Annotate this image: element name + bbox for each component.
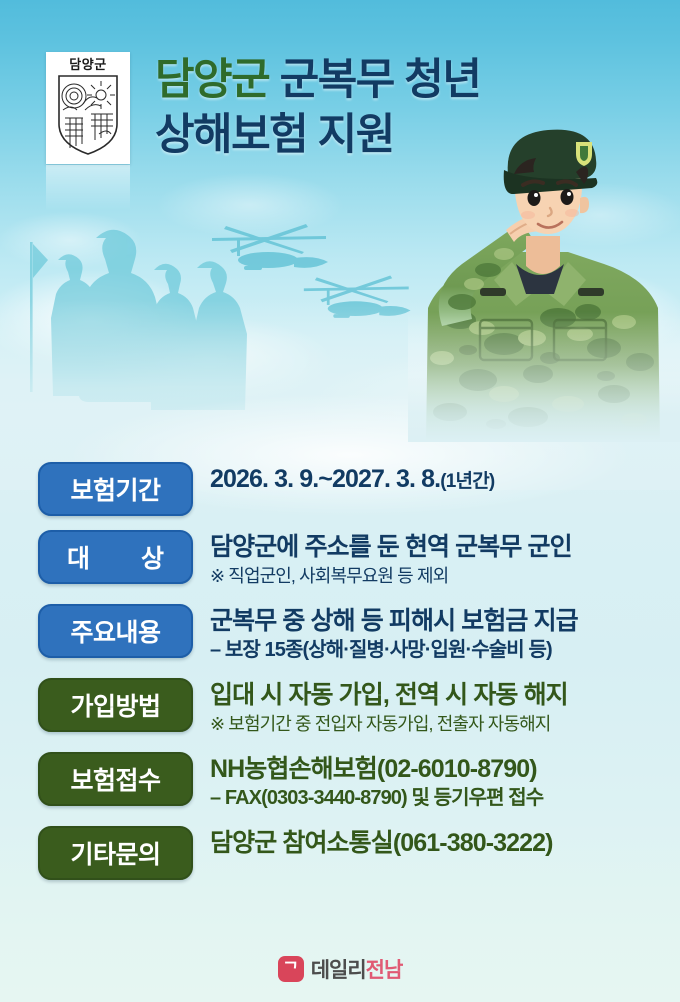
info-table: 보험기간 2026. 3. 9.~2027. 3. 8.(1년간) 대 상 담양… [0,462,680,894]
info-row: 주요내용 군복무 중 상해 등 피해시 보험금 지급 – 보장 15종(상해·질… [0,604,680,664]
publisher-logo: ᄀ 데일리전남 [0,954,680,984]
helicopter-icon [212,224,328,270]
row-line-1: 담양군에 주소를 둔 현역 군복무 군인 [210,532,652,562]
title-highlight: 담양군 [155,56,269,104]
info-row: 보험기간 2026. 3. 9.~2027. 3. 8.(1년간) [0,462,680,516]
publisher-name-part-2: 전남 [366,959,403,982]
helicopter-group [210,218,440,348]
damyang-county-crest-icon [57,74,119,156]
emblem-reflection [46,165,130,211]
row-label-badge: 가입방법 [38,678,193,732]
row-line-1: 군복무 중 상해 등 피해시 보험금 지급 [210,606,652,636]
publisher-name: 데일리전남 [311,954,403,984]
row-line-1-main: 2026. 3. 9.~2027. 3. 8. [210,465,440,493]
poster-title: 담양군 군복무 청년 상해보험 지원 [155,53,625,162]
row-line-1: 2026. 3. 9.~2027. 3. 8.(1년간) [210,464,652,497]
title-line-2: 상해보험 지원 [155,108,625,162]
poster-root: 담양군 담양군 군복무 청년 상해보험 지원 보험기간 [0,0,680,1002]
info-row: 보험접수 NH농협손해보험(02-6010-8790) – FAX(0303-3… [0,752,680,812]
emblem-label: 담양군 [69,58,106,71]
row-line-2: – FAX(0303-3440-8790) 및 등기우편 접수 [210,785,652,812]
row-label-badge: 대 상 [38,530,193,584]
info-row: 가입방법 입대 시 자동 가입, 전역 시 자동 해지 ※ 보험기간 중 전입자… [0,678,680,738]
county-emblem: 담양군 [46,52,130,164]
row-line-2: ※ 보험기간 중 전입자 자동가입, 전출자 자동해지 [210,711,652,738]
daily-jeonnam-mark-icon: ᄀ [278,956,304,982]
row-line-1: 담양군 참여소통실(061-380-3222) [210,828,652,858]
row-content: 2026. 3. 9.~2027. 3. 8.(1년간) [210,462,652,497]
row-content: 군복무 중 상해 등 피해시 보험금 지급 – 보장 15종(상해·질병·사망·… [210,604,652,664]
publisher-name-part-1: 데일리 [311,959,366,982]
row-content: 입대 시 자동 가입, 전역 시 자동 해지 ※ 보험기간 중 전입자 자동가입… [210,678,652,738]
helicopter-icon [304,276,411,318]
title-rest: 군복무 청년 [269,56,480,104]
row-label-badge: 보험기간 [38,462,193,516]
row-line-2: ※ 직업군인, 사회복무요원 등 제외 [210,563,652,590]
row-content: 담양군 참여소통실(061-380-3222) [210,826,652,858]
row-line-1: NH농협손해보험(02-6010-8790) [210,754,652,784]
info-row: 기타문의 담양군 참여소통실(061-380-3222) [0,826,680,880]
row-label-badge: 주요내용 [38,604,193,658]
row-line-2: – 보장 15종(상해·질병·사망·입원·수술비 등) [210,637,652,664]
row-line-1: 입대 시 자동 가입, 전역 시 자동 해지 [210,680,652,710]
info-row: 대 상 담양군에 주소를 둔 현역 군복무 군인 ※ 직업군인, 사회복무요원 … [0,530,680,590]
row-content: NH농협손해보험(02-6010-8790) – FAX(0303-3440-8… [210,752,652,812]
row-content: 담양군에 주소를 둔 현역 군복무 군인 ※ 직업군인, 사회복무요원 등 제외 [210,530,652,590]
row-label-badge: 보험접수 [38,752,193,806]
row-line-1-suffix: (1년간) [440,471,494,492]
row-label-badge: 기타문의 [38,826,193,880]
title-line-1: 담양군 군복무 청년 [155,53,625,107]
